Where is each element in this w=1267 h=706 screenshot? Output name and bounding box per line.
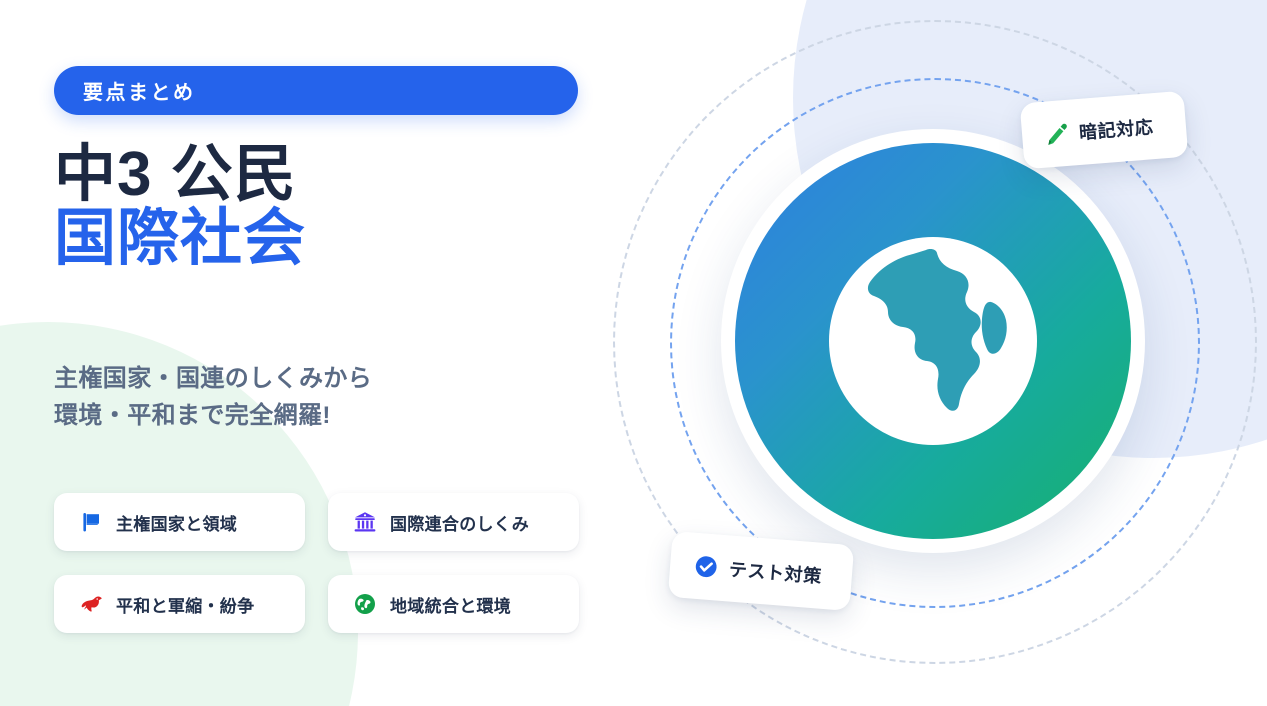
topic-chip-sovereign-state[interactable]: 主権国家と領域	[54, 493, 305, 551]
page-title-line-2: 国際社会	[54, 207, 594, 271]
topic-chip-label: 地域統合と環境	[390, 592, 511, 617]
pencil-icon	[1043, 121, 1069, 147]
topic-chip-regional-environment[interactable]: 地域統合と環境	[328, 575, 579, 633]
topic-chip-label: 平和と軍縮・紛争	[116, 592, 254, 617]
dove-icon	[78, 591, 104, 617]
topic-chip-united-nations[interactable]: 国際連合のしくみ	[328, 493, 579, 551]
poster-canvas: 要点まとめ 中3 公民 国際社会 主権国家・国連のしくみから 環境・平和まで完全…	[0, 0, 1267, 706]
hero-illustration: 暗記対応 テスト対策	[600, 0, 1267, 706]
bank-icon	[352, 509, 378, 535]
topic-chip-peace-disarmament[interactable]: 平和と軍縮・紛争	[54, 575, 305, 633]
check-circle-icon	[693, 554, 719, 580]
page-title-line-1: 中3 公民	[54, 143, 594, 207]
floating-tag-memorize[interactable]: 暗記対応	[1020, 91, 1189, 170]
earth-globe-icon	[735, 143, 1131, 539]
flag-icon	[78, 509, 104, 535]
page-subtitle-line-2: 環境・平和まで完全網羅!	[54, 397, 574, 434]
globe-badge	[721, 129, 1145, 553]
topic-chip-label: 国際連合のしくみ	[390, 510, 529, 535]
floating-tag-label: 暗記対応	[1078, 113, 1154, 145]
category-badge: 要点まとめ	[54, 66, 578, 115]
page-subtitle-line-1: 主権国家・国連のしくみから	[54, 360, 574, 397]
page-title: 中3 公民 国際社会	[54, 143, 594, 272]
page-subtitle: 主権国家・国連のしくみから 環境・平和まで完全網羅!	[54, 360, 574, 434]
floating-tag-label: テスト対策	[728, 556, 823, 589]
left-content-column: 要点まとめ 中3 公民 国際社会 主権国家・国連のしくみから 環境・平和まで完全…	[0, 0, 620, 706]
topic-chip-list: 主権国家と領域 国際連合のしくみ	[54, 493, 580, 633]
category-badge-label: 要点まとめ	[83, 76, 196, 105]
topic-chip-label: 主権国家と領域	[116, 510, 237, 535]
floating-tag-test[interactable]: テスト対策	[668, 531, 855, 611]
globe-icon	[352, 591, 378, 617]
